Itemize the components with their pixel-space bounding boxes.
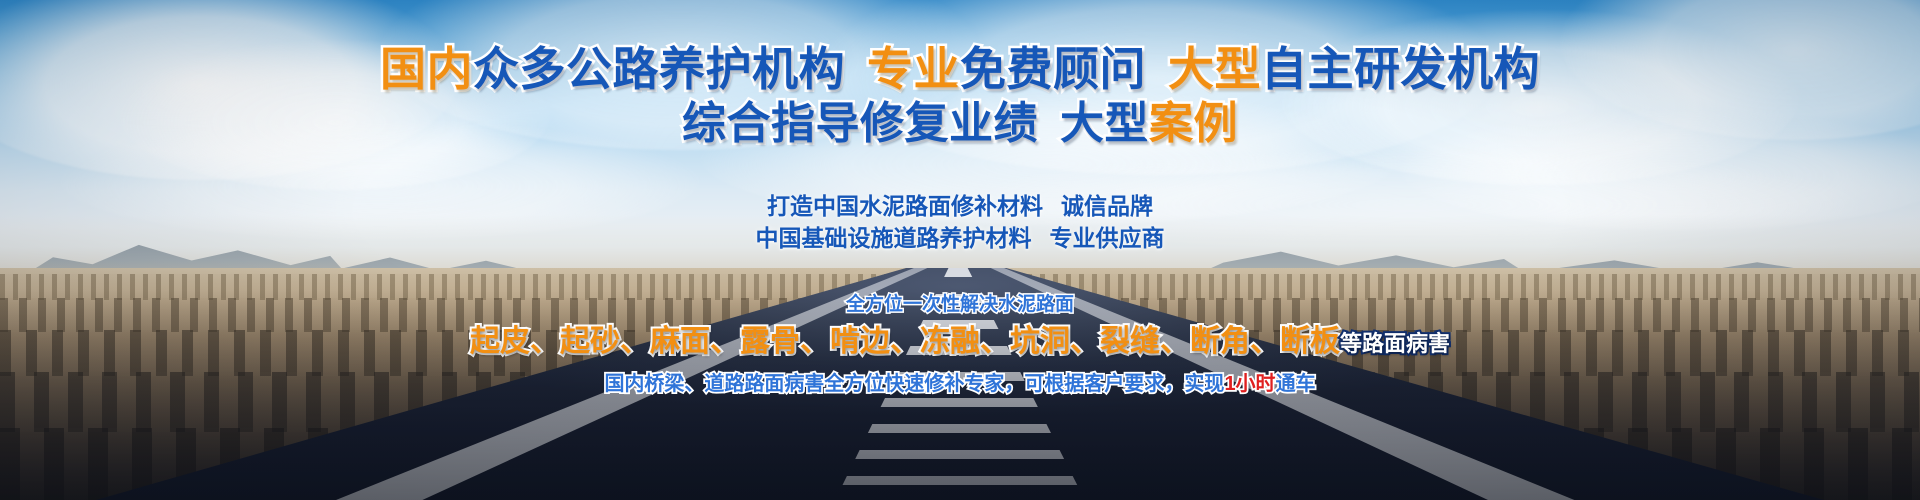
mid-tagline-1a: 打造中国水泥路面修补材料 [767, 193, 1043, 219]
headline-seg-orange: 专业 [867, 43, 960, 95]
headline-seg-orange: 国内 [380, 43, 473, 95]
headline-seg-blue: 免费顾问 [960, 43, 1146, 95]
mid-tagline-line-2: 中国基础设施道路养护材料专业供应商 [0, 222, 1920, 254]
mid-tagline-block: 打造中国水泥路面修补材料诚信品牌 中国基础设施道路养护材料专业供应商 [0, 190, 1920, 254]
defect-list-tail: 等路面病害 [1340, 331, 1450, 356]
bottom-block: 全方位一次性解决水泥路面 起皮、起砂、麻面、露骨、啃边、冻融、坑洞、裂缝、断角、… [0, 292, 1920, 398]
headline-seg-orange: 案例 [1149, 99, 1238, 148]
mid-tagline-2b: 专业供应商 [1050, 225, 1165, 251]
banner-content: 国内众多公路养护机构专业免费顾问大型自主研发机构 综合指导修复业绩大型案例 打造… [0, 0, 1920, 500]
headline-line-1: 国内众多公路养护机构专业免费顾问大型自主研发机构 [0, 46, 1920, 92]
mid-tagline-1b: 诚信品牌 [1061, 193, 1153, 219]
bottom-defect-list: 起皮、起砂、麻面、露骨、啃边、冻融、坑洞、裂缝、断角、断板等路面病害 [0, 322, 1920, 364]
bottom-small-line: 全方位一次性解决水泥路面 [0, 292, 1920, 318]
headline-line-2: 综合指导修复业绩大型案例 [0, 102, 1920, 146]
mid-tagline-2a: 中国基础设施道路养护材料 [756, 225, 1032, 251]
note-before: 国内桥梁、道路路面病害全方位快速修补专家，可根据客户要求，实现 [604, 373, 1224, 395]
headline-seg-blue: 综合指导修复业绩 [682, 99, 1038, 148]
headline-seg-blue: 大型 [1060, 99, 1149, 148]
headline-seg-blue: 自主研发机构 [1261, 43, 1540, 95]
defect-items: 起皮、起砂、麻面、露骨、啃边、冻融、坑洞、裂缝、断角、断板 [470, 325, 1340, 358]
headline-seg-orange: 大型 [1168, 43, 1261, 95]
note-highlight: 1小时 [1224, 373, 1275, 395]
mid-tagline-line-1: 打造中国水泥路面修补材料诚信品牌 [0, 190, 1920, 222]
headline-seg-blue: 众多公路养护机构 [473, 43, 845, 95]
bottom-note: 国内桥梁、道路路面病害全方位快速修补专家，可根据客户要求，实现1小时通车 [0, 370, 1920, 398]
note-after: 通车 [1276, 373, 1316, 395]
promo-banner: 国内众多公路养护机构专业免费顾问大型自主研发机构 综合指导修复业绩大型案例 打造… [0, 0, 1920, 500]
